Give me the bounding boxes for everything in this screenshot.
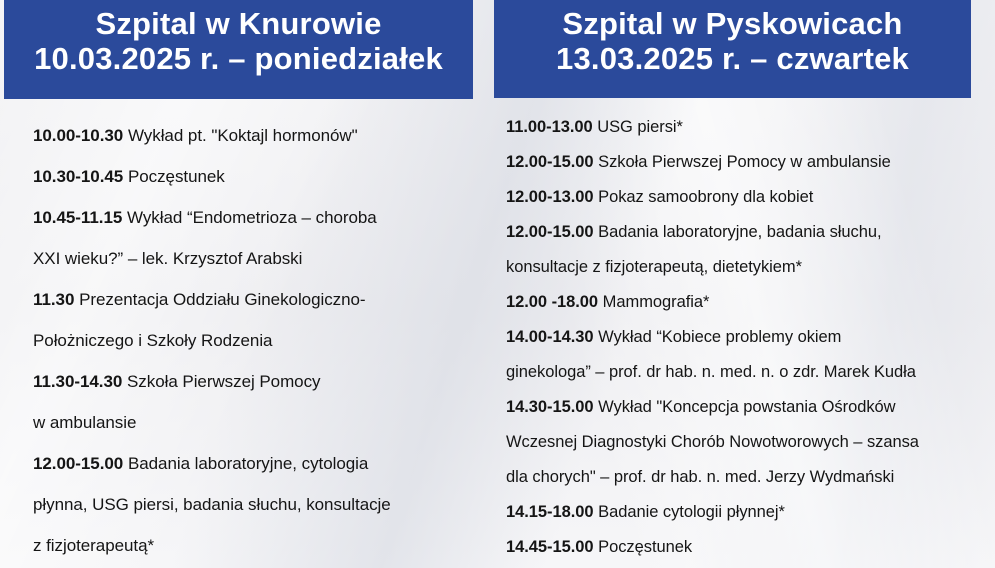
- header-subtitle-knurow: 10.03.2025 r. – poniedziałek: [4, 42, 473, 77]
- schedule-description: Położniczego i Szkoły Rodzenia: [33, 331, 272, 350]
- schedule-time: 12.00-15.00: [506, 153, 594, 171]
- schedule-description: Prezentacja Oddziału Ginekologiczno-: [79, 290, 365, 309]
- schedule-description: Szkoła Pierwszej Pomocy w ambulansie: [598, 153, 891, 171]
- schedule-description: Wykład “Endometrioza – choroba: [127, 208, 377, 227]
- schedule-description: XXI wieku?” – lek. Krzysztof Arabski: [33, 249, 302, 268]
- schedule-time: 11.30-14.30: [33, 372, 122, 391]
- schedule-line: 11.00-13.00USG piersi*: [506, 110, 995, 145]
- schedule-description: z fizjoterapeutą*: [33, 536, 154, 555]
- schedule-list-knurow: 10.00-10.30Wykład pt. "Koktajl hormonów"…: [4, 99, 473, 566]
- schedule-time: 12.00 -18.00: [506, 293, 598, 311]
- schedule-columns: Szpital w Knurowie 10.03.2025 r. – ponie…: [0, 0, 995, 568]
- schedule-line: 11.30Prezentacja Oddziału Ginekologiczno…: [33, 279, 473, 320]
- schedule-time: 11.00-13.00: [506, 118, 593, 136]
- schedule-description: Mammografia*: [603, 293, 710, 311]
- schedule-description: Badania laboratoryjne, cytologia: [128, 454, 368, 473]
- schedule-description: konsultacje z fizjoterapeutą, dietetykie…: [506, 258, 802, 276]
- schedule-line: dla chorych" – prof. dr hab. n. med. Jer…: [506, 460, 995, 495]
- column-header-pyskowice: Szpital w Pyskowicach 13.03.2025 r. – cz…: [494, 0, 971, 98]
- schedule-time: 14.00-14.30: [506, 328, 594, 346]
- schedule-line: Położniczego i Szkoły Rodzenia: [33, 320, 473, 361]
- schedule-description: w ambulansie: [33, 413, 136, 432]
- schedule-line: 10.00-10.30Wykład pt. "Koktajl hormonów": [33, 115, 473, 156]
- schedule-time: 12.00-15.00: [506, 223, 594, 241]
- schedule-line: konsultacje z fizjoterapeutą, dietetykie…: [506, 250, 995, 285]
- schedule-list-pyskowice: 11.00-13.00USG piersi*12.00-15.00Szkoła …: [494, 98, 995, 565]
- schedule-time: 10.30-10.45: [33, 167, 123, 186]
- schedule-line: 10.30-10.45Poczęstunek: [33, 156, 473, 197]
- header-subtitle-pyskowice: 13.03.2025 r. – czwartek: [494, 42, 971, 77]
- schedule-line: 12.00-15.00Badania laboratoryjne, badani…: [506, 215, 995, 250]
- schedule-line: XXI wieku?” – lek. Krzysztof Arabski: [33, 238, 473, 279]
- schedule-time: 10.00-10.30: [33, 126, 123, 145]
- schedule-column-pyskowice: Szpital w Pyskowicach 13.03.2025 r. – cz…: [473, 0, 995, 565]
- schedule-line: 12.00-15.00Szkoła Pierwszej Pomocy w amb…: [506, 145, 995, 180]
- schedule-line: 11.30-14.30Szkoła Pierwszej Pomocy: [33, 361, 473, 402]
- schedule-line: 12.00 -18.00Mammografia*: [506, 285, 995, 320]
- schedule-line: 14.15-18.00Badanie cytologii płynnej*: [506, 495, 995, 530]
- schedule-description: Poczęstunek: [128, 167, 225, 186]
- schedule-description: Szkoła Pierwszej Pomocy: [127, 372, 320, 391]
- schedule-description: Pokaz samoobrony dla kobiet: [598, 188, 813, 206]
- schedule-description: Badania laboratoryjne, badania słuchu,: [598, 223, 881, 241]
- schedule-description: USG piersi*: [597, 118, 683, 136]
- schedule-column-knurow: Szpital w Knurowie 10.03.2025 r. – ponie…: [0, 0, 473, 566]
- schedule-description: Poczęstunek: [598, 538, 692, 556]
- schedule-description: ginekologa” – prof. dr hab. n. med. n. o…: [506, 363, 916, 381]
- schedule-line: 14.45-15.00Poczęstunek: [506, 530, 995, 565]
- schedule-line: płynna, USG piersi, badania słuchu, kons…: [33, 484, 473, 525]
- schedule-description: Wykład pt. "Koktajl hormonów": [128, 126, 358, 145]
- schedule-line: 12.00-15.00Badania laboratoryjne, cytolo…: [33, 443, 473, 484]
- schedule-time: 12.00-13.00: [506, 188, 594, 206]
- schedule-description: Badanie cytologii płynnej*: [598, 503, 785, 521]
- schedule-description: dla chorych" – prof. dr hab. n. med. Jer…: [506, 468, 894, 486]
- header-title-knurow: Szpital w Knurowie: [4, 7, 473, 42]
- column-header-knurow: Szpital w Knurowie 10.03.2025 r. – ponie…: [4, 0, 473, 99]
- schedule-description: Wczesnej Diagnostyki Chorób Nowotworowyc…: [506, 433, 919, 451]
- schedule-line: z fizjoterapeutą*: [33, 525, 473, 566]
- header-title-pyskowice: Szpital w Pyskowicach: [494, 7, 971, 42]
- schedule-description: płynna, USG piersi, badania słuchu, kons…: [33, 495, 391, 514]
- schedule-line: ginekologa” – prof. dr hab. n. med. n. o…: [506, 355, 995, 390]
- schedule-line: 14.30-15.00Wykład "Koncepcja powstania O…: [506, 390, 995, 425]
- schedule-time: 12.00-15.00: [33, 454, 123, 473]
- schedule-line: w ambulansie: [33, 402, 473, 443]
- schedule-line: 12.00-13.00Pokaz samoobrony dla kobiet: [506, 180, 995, 215]
- schedule-time: 10.45-11.15: [33, 208, 122, 227]
- schedule-time: 14.45-15.00: [506, 538, 594, 556]
- schedule-time: 11.30: [33, 290, 74, 309]
- schedule-time: 14.15-18.00: [506, 503, 594, 521]
- schedule-line: Wczesnej Diagnostyki Chorób Nowotworowyc…: [506, 425, 995, 460]
- schedule-description: Wykład "Koncepcja powstania Ośrodków: [598, 398, 895, 416]
- schedule-line: 14.00-14.30Wykład “Kobiece problemy okie…: [506, 320, 995, 355]
- schedule-description: Wykład “Kobiece problemy okiem: [598, 328, 841, 346]
- schedule-line: 10.45-11.15Wykład “Endometrioza – chorob…: [33, 197, 473, 238]
- schedule-time: 14.30-15.00: [506, 398, 594, 416]
